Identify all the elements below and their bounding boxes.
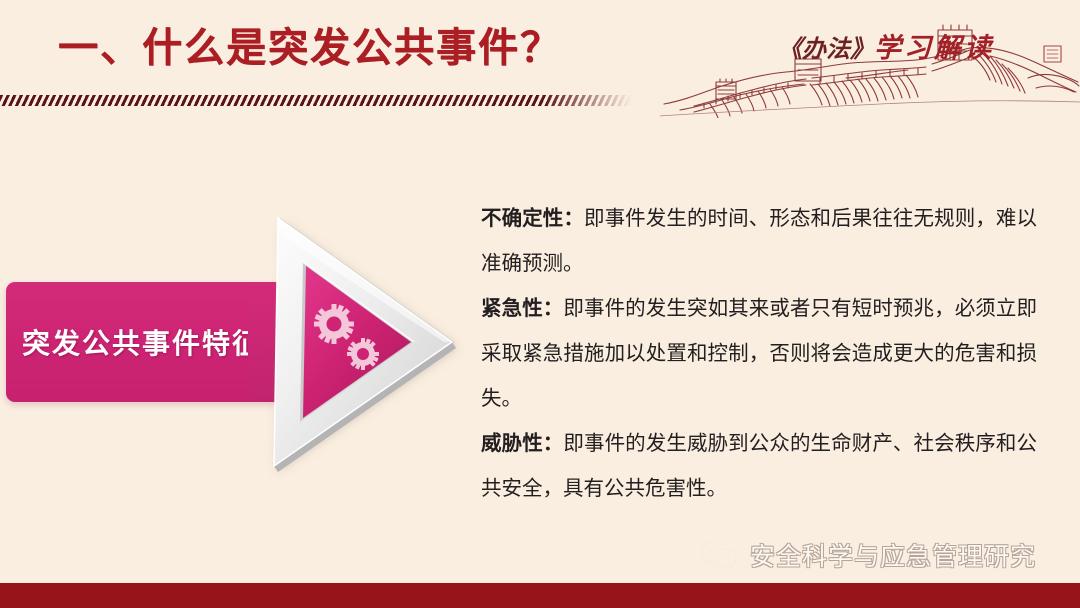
term-label-urgency: 紧急性： (481, 297, 563, 320)
term-text-urgency: 即事件的发生突如其来或者只有短时预兆，必须立即采取紧急措施加以处置和控制，否则将… (481, 297, 1037, 410)
decorative-script-title: 《办法》学习解读 (778, 26, 994, 65)
term-text-threat: 即事件的发生威胁到公众的生命财产、社会秩序和公共安全，具有公共危害性。 (481, 432, 1037, 500)
watermark-label: 安全科学与应急管理研究 (750, 537, 1036, 573)
watermark: 安全科学与应急管理研究 (700, 537, 1036, 573)
play-triangle-graphic (248, 196, 478, 496)
script-brackets: 《办法》 (778, 37, 874, 63)
feature-banner[interactable]: 突发公共事件特征 (6, 282, 278, 402)
feature-banner-label: 突发公共事件特征 (22, 322, 262, 362)
term-label-threat: 威胁性： (481, 432, 563, 455)
slide-header: 一、什么是突发公共事件？ (0, 0, 1080, 118)
hatched-divider (0, 95, 632, 106)
term-label-uncertainty: 不确定性： (481, 207, 584, 230)
wechat-icon (700, 539, 738, 571)
paragraph-uncertainty: 不确定性：即事件发生的时间、形态和后果往往无规则，难以准确预测。 (481, 196, 1037, 286)
content-body: 不确定性：即事件发生的时间、形态和后果往往无规则，难以准确预测。 紧急性：即事件… (481, 196, 1037, 511)
footer-bar (0, 583, 1080, 608)
paragraph-urgency: 紧急性：即事件的发生突如其来或者只有短时预兆，必须立即采取紧急措施加以处置和控制… (481, 286, 1037, 421)
slide-canvas: 一、什么是突发公共事件？ (0, 0, 1080, 608)
page-title: 一、什么是突发公共事件？ (58, 20, 562, 76)
script-main: 学习解读 (874, 33, 994, 63)
paragraph-threat: 威胁性：即事件的发生威胁到公众的生命财产、社会秩序和公共安全，具有公共危害性。 (481, 421, 1037, 511)
